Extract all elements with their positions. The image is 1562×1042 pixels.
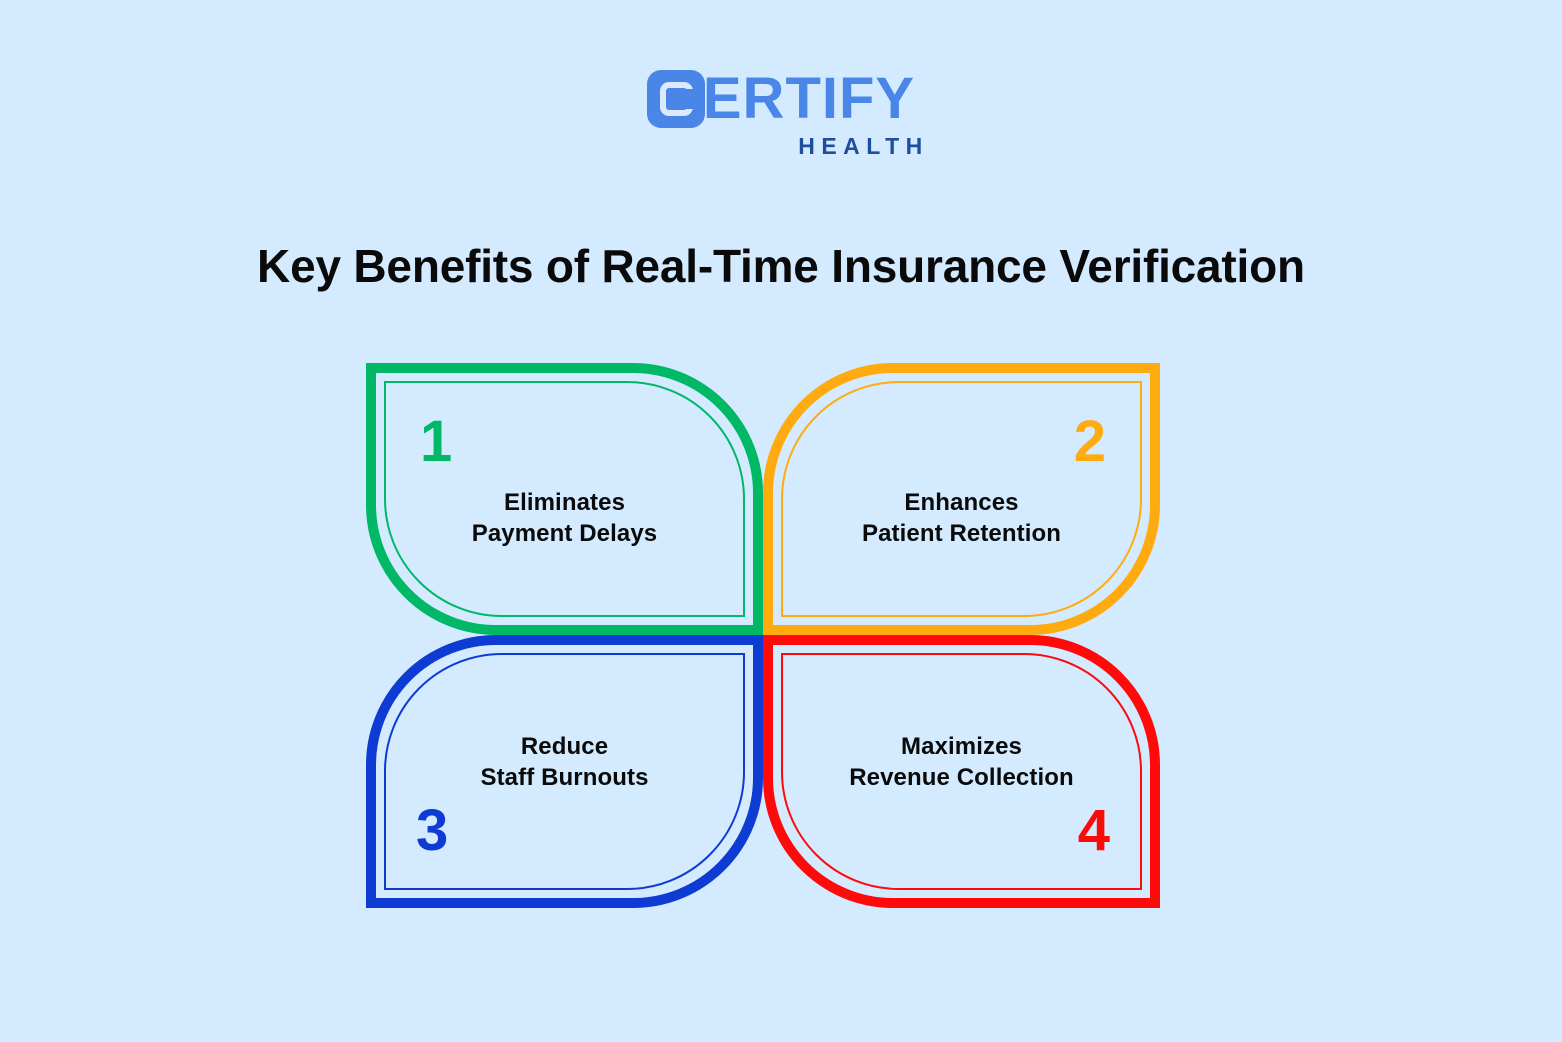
card-label-4-line1: Maximizes (763, 731, 1160, 762)
card-number-3: 3 (416, 802, 448, 860)
card-number-4: 4 (1078, 802, 1110, 860)
card-label-1-line2: Payment Delays (366, 518, 763, 549)
benefit-card-2: 2 Enhances Patient Retention (763, 363, 1160, 635)
card-number-2: 2 (1074, 413, 1106, 471)
logo-subtitle: HEALTH (798, 133, 929, 160)
card-label-1: Eliminates Payment Delays (366, 487, 763, 549)
benefit-card-3: 3 Reduce Staff Burnouts (366, 635, 763, 908)
logo-row: ERTIFY (647, 68, 915, 130)
card-label-2-line2: Patient Retention (763, 518, 1160, 549)
brand-logo: ERTIFY HEALTH (0, 68, 1562, 160)
benefit-card-1: 1 Eliminates Payment Delays (366, 363, 763, 635)
benefits-diagram: 1 Eliminates Payment Delays 2 Enhances P… (366, 363, 1160, 908)
benefit-card-4: 4 Maximizes Revenue Collection (763, 635, 1160, 908)
certify-c-mark-icon (647, 70, 705, 128)
logo-wordmark: ERTIFY (703, 70, 915, 128)
card-label-3: Reduce Staff Burnouts (366, 731, 763, 793)
c-notch-shape (685, 89, 700, 109)
card-label-2-line1: Enhances (763, 487, 1160, 518)
card-label-4-line2: Revenue Collection (763, 762, 1160, 793)
card-number-1: 1 (420, 413, 452, 471)
card-label-1-line1: Eliminates (366, 487, 763, 518)
card-label-2: Enhances Patient Retention (763, 487, 1160, 549)
card-label-3-line2: Staff Burnouts (366, 762, 763, 793)
card-label-4: Maximizes Revenue Collection (763, 731, 1160, 793)
page-title: Key Benefits of Real-Time Insurance Veri… (0, 239, 1562, 293)
card-label-3-line1: Reduce (366, 731, 763, 762)
